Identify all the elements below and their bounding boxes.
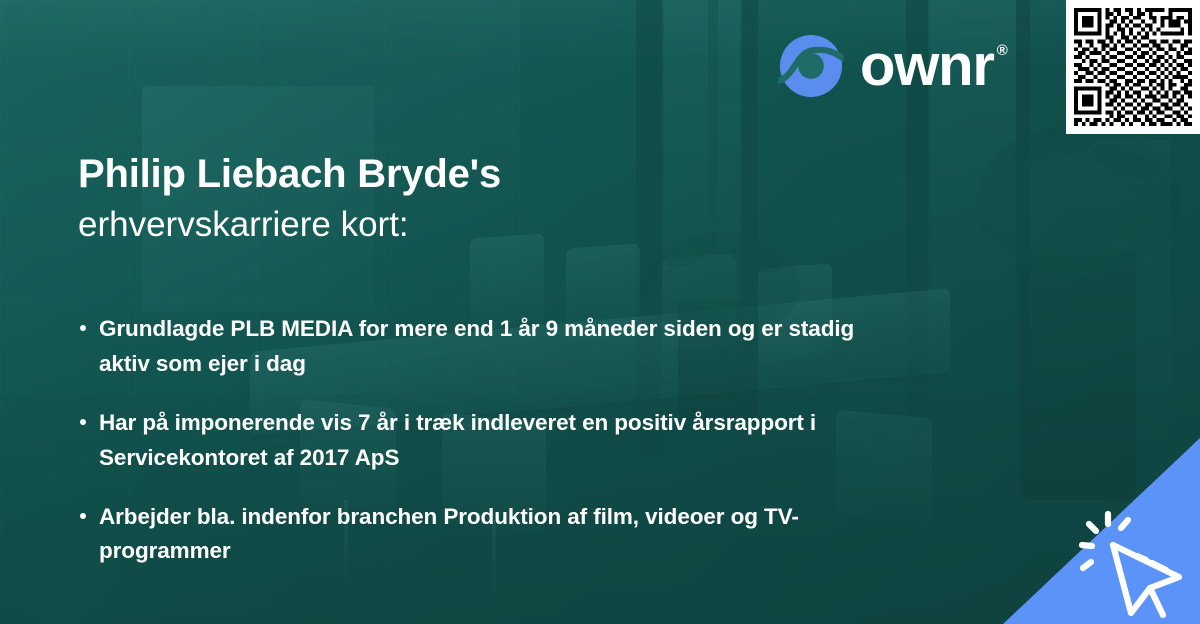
qr-code-panel[interactable]: [1066, 0, 1200, 134]
list-item-text: Har på imponerende vis 7 år i træk indle…: [99, 406, 889, 476]
list-item-text: Grundlagde PLB MEDIA for mere end 1 år 9…: [99, 312, 889, 382]
list-item: Har på imponerende vis 7 år i træk indle…: [80, 406, 910, 476]
list-item-text: Arbejder bla. indenfor branchen Produkti…: [99, 500, 889, 570]
career-highlights-list: Grundlagde PLB MEDIA for mere end 1 år 9…: [80, 312, 910, 569]
page-title: Philip Liebach Bryde's erhvervskarriere …: [78, 152, 501, 246]
headline-line-2: erhvervskarriere kort:: [78, 204, 501, 246]
list-item: Arbejder bla. indenfor branchen Produkti…: [80, 500, 910, 570]
bullet-dot-icon: [80, 419, 86, 425]
ownr-wordmark-text: ownr: [860, 37, 994, 95]
bullet-dot-icon: [80, 325, 86, 331]
registered-trademark-symbol: ®: [997, 43, 1007, 58]
bullet-dot-icon: [80, 513, 86, 519]
headline-line-1: Philip Liebach Bryde's: [78, 152, 501, 198]
ownr-business-card: ownr ® Philip Liebach Bryde's erhvervska…: [0, 0, 1200, 624]
ownr-circle-swoosh-logo-icon: [778, 33, 844, 99]
list-item: Grundlagde PLB MEDIA for mere end 1 år 9…: [80, 312, 910, 382]
ownr-logo: ownr ®: [778, 33, 1007, 99]
ownr-wordmark: ownr ®: [860, 37, 1007, 95]
qr-code-icon[interactable]: [1066, 0, 1200, 134]
